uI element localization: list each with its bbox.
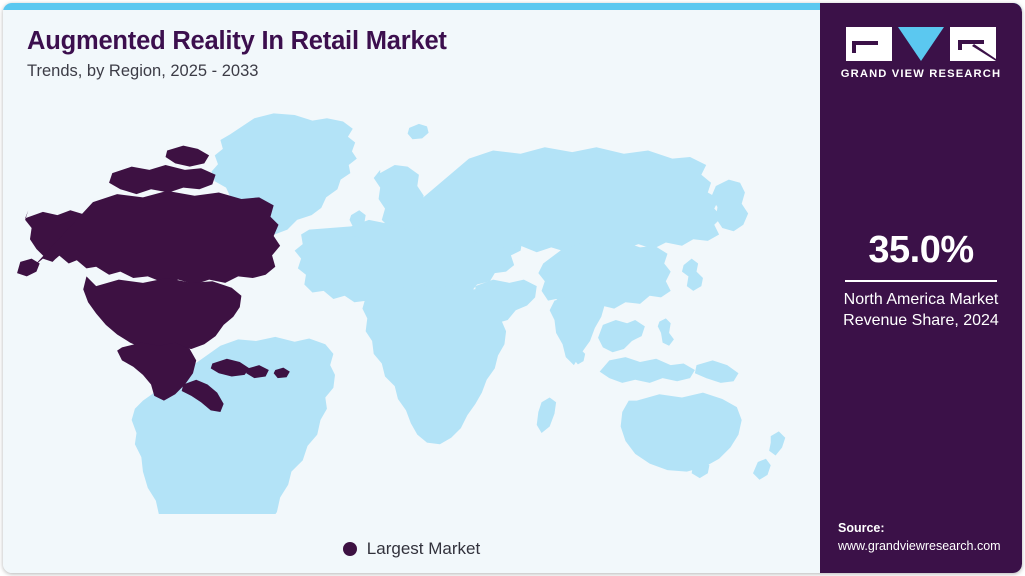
region-philippines (658, 318, 674, 345)
screenshot-root: Augmented Reality In Retail Market Trend… (0, 0, 1025, 576)
side-panel: GRAND VIEW RESEARCH 35.0% North America … (820, 3, 1022, 573)
region-australia (621, 393, 742, 472)
region-canada (33, 191, 280, 285)
legend-swatch-largest-market (343, 542, 357, 556)
logo-r-icon (950, 27, 996, 61)
stat-divider (845, 280, 997, 282)
region-arctic-islands (109, 146, 216, 194)
stat-block: 35.0% North America Market Revenue Share… (820, 231, 1022, 332)
region-svalbard (408, 124, 429, 139)
page-title: Augmented Reality In Retail Market (27, 27, 447, 56)
source-label: Source: (838, 519, 1012, 537)
region-madagascar (537, 397, 556, 433)
region-southeast-asia (598, 320, 645, 352)
map-pane: Augmented Reality In Retail Market Trend… (3, 10, 820, 573)
infographic-card: Augmented Reality In Retail Market Trend… (3, 3, 1022, 573)
stat-value: 35.0% (826, 231, 1016, 271)
page-subtitle: Trends, by Region, 2025 - 2033 (27, 62, 447, 82)
world-map-svg (9, 84, 820, 514)
logo-v-icon (898, 27, 944, 61)
region-africa (362, 284, 506, 444)
logo-g-icon (846, 27, 892, 61)
region-indonesia (600, 357, 695, 383)
region-new-guinea (695, 360, 739, 383)
region-new-zealand (753, 431, 785, 479)
brand-logo: GRAND VIEW RESEARCH (820, 27, 1022, 80)
legend-label-largest-market: Largest Market (367, 540, 480, 557)
logo-marks (846, 27, 996, 61)
region-far-east (711, 180, 748, 232)
world-map (3, 10, 820, 573)
title-group: Augmented Reality In Retail Market Trend… (27, 27, 447, 81)
source-block: Source: www.grandviewresearch.com (838, 519, 1012, 555)
stat-description-line-1: North America Market (826, 289, 1016, 311)
stat-description-line-2: Revenue Share, 2024 (826, 310, 1016, 332)
region-usa (83, 276, 241, 352)
source-url[interactable]: www.grandviewresearch.com (838, 537, 1012, 555)
map-legend: Largest Market (3, 540, 820, 557)
region-japan (682, 259, 703, 291)
brand-name: GRAND VIEW RESEARCH (841, 68, 1001, 80)
